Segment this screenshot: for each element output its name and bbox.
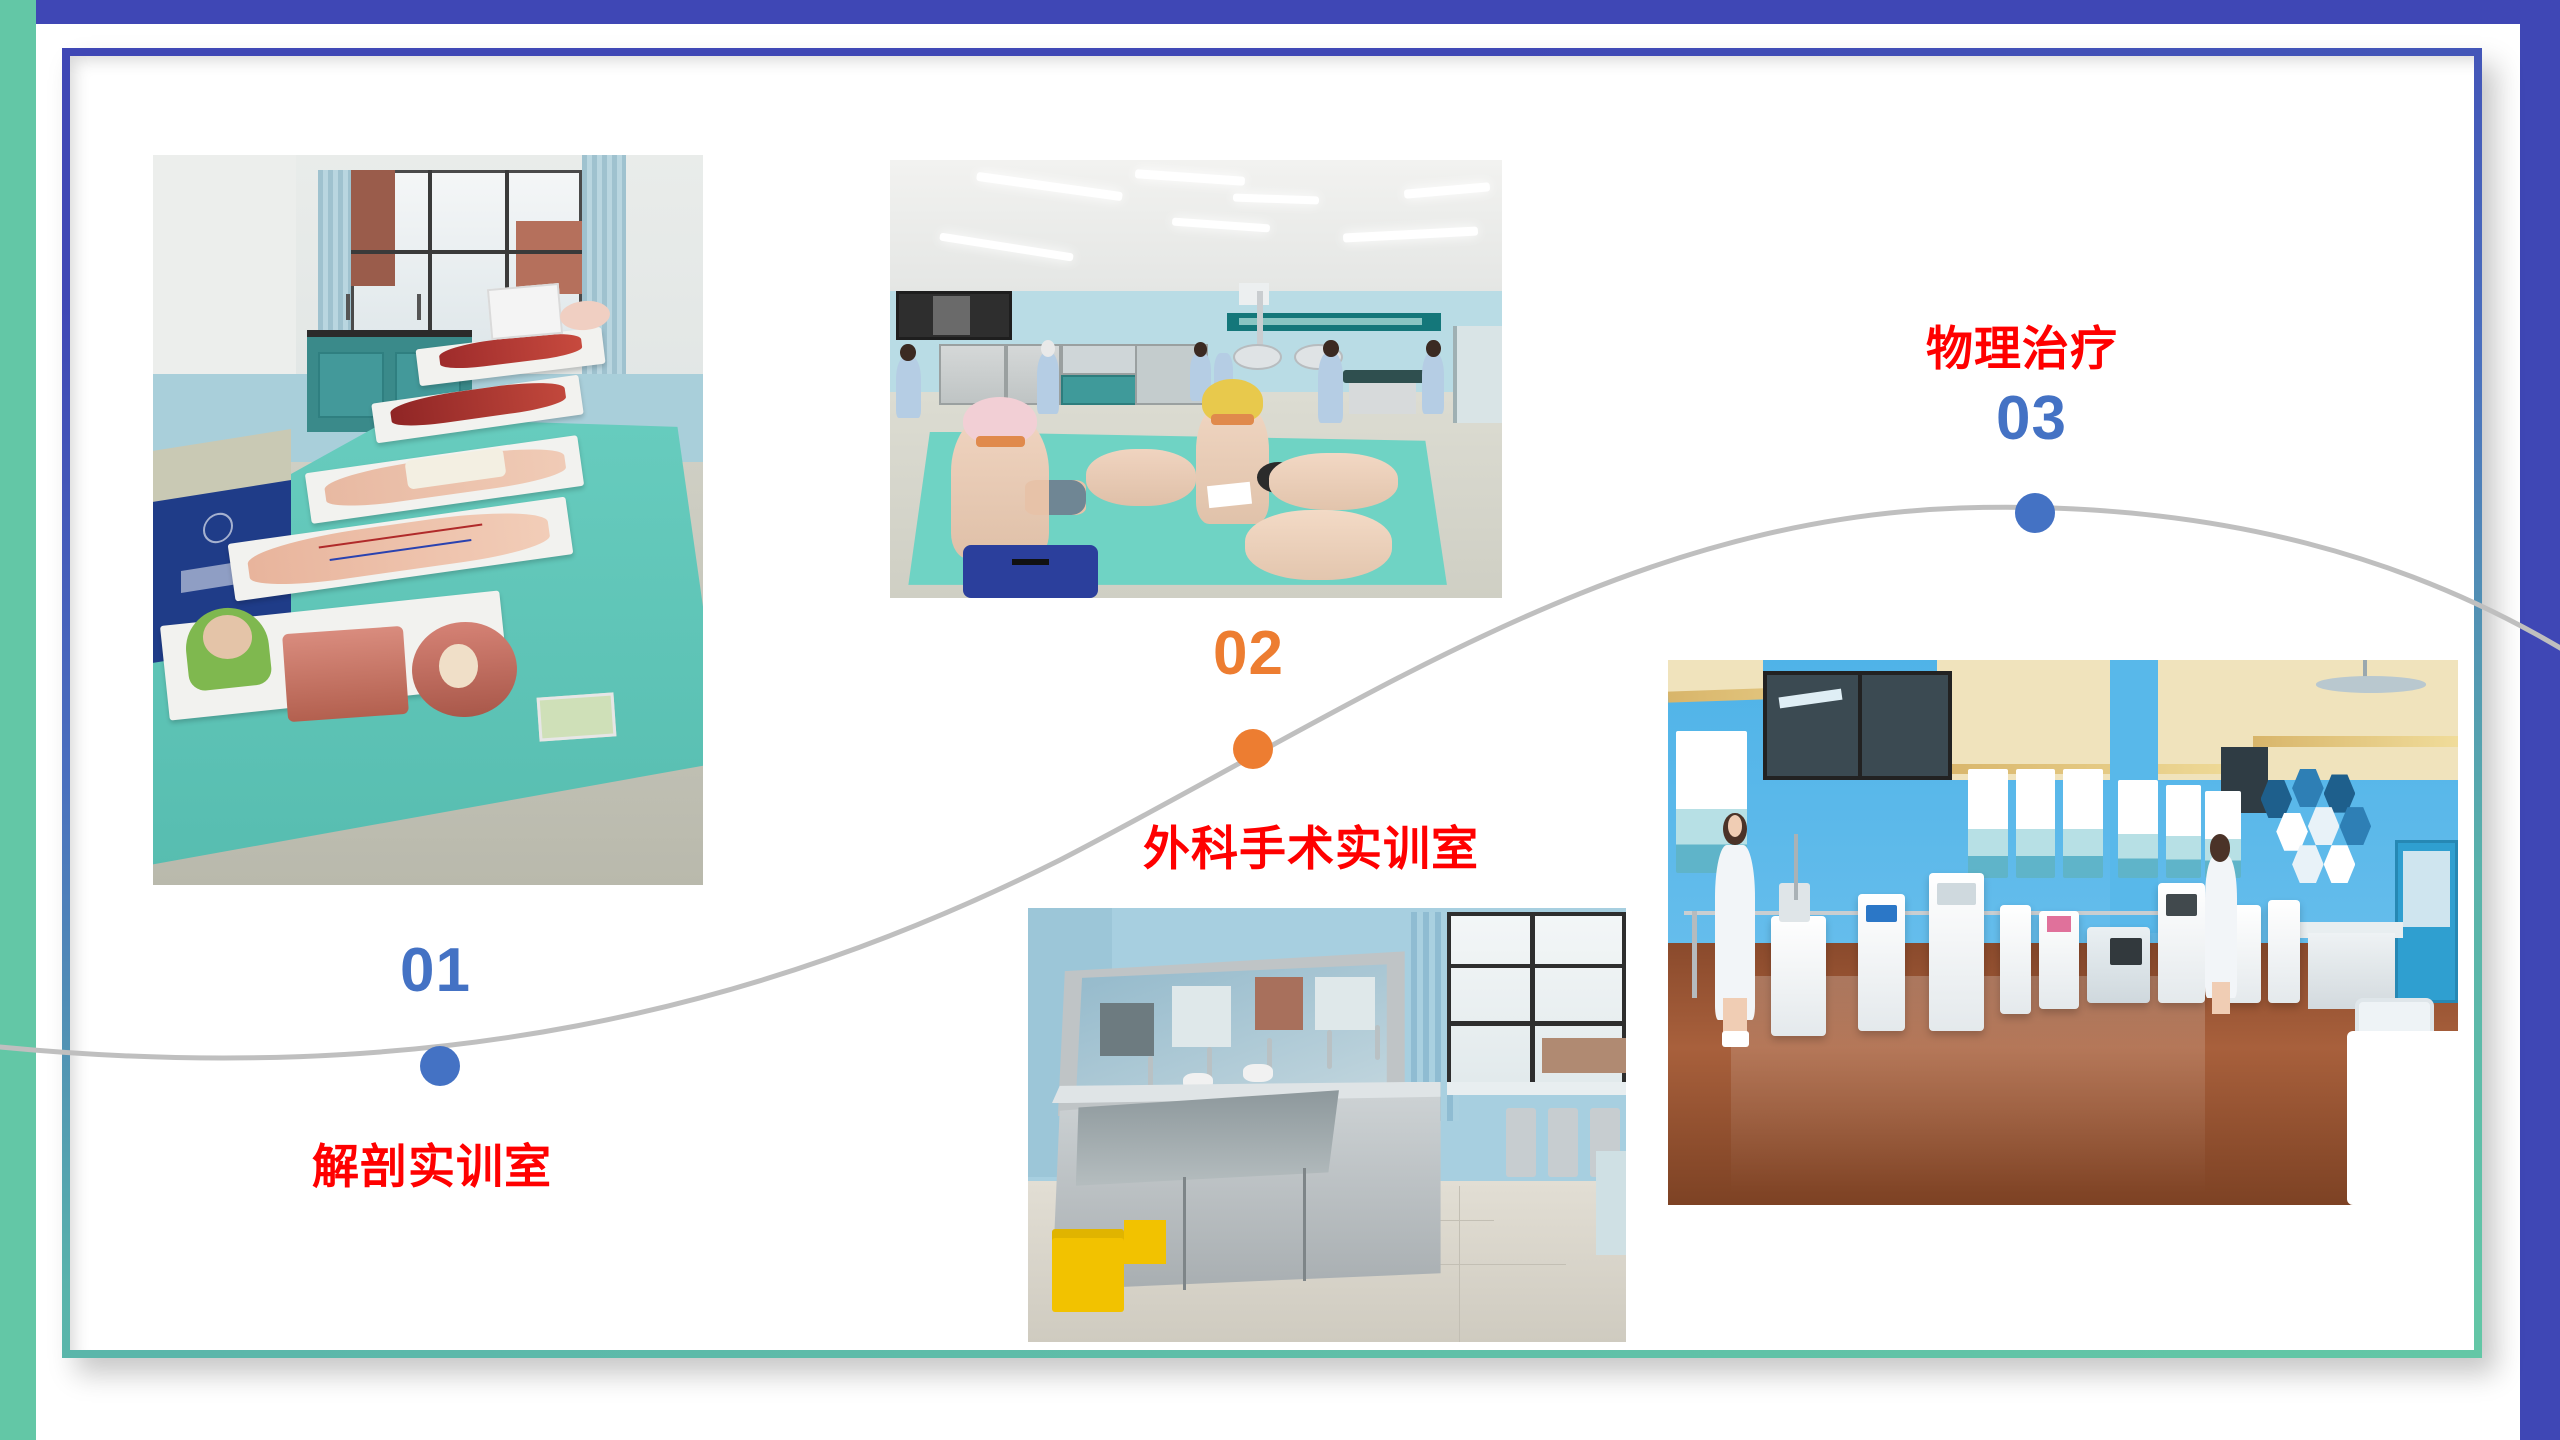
- timeline-dot-02[interactable]: [1233, 729, 1273, 769]
- decor-teal-left-bar: [0, 0, 36, 1440]
- decor-blue-right-bar: [2520, 0, 2560, 1440]
- timeline-dot-01[interactable]: [420, 1046, 460, 1086]
- slide-canvas: 01 解剖实训室 02 外科手术实训室 03 物理治疗: [0, 0, 2560, 1440]
- photo-physiotherapy: [1668, 660, 2458, 1205]
- timeline-caption-02: 外科手术实训室: [1143, 810, 1479, 879]
- timeline-caption-03: 物理治疗: [1926, 310, 2118, 379]
- timeline-number-01: 01: [400, 935, 471, 1006]
- anatomy-table-sign: [537, 693, 617, 742]
- photo-anatomy-lab: [153, 155, 703, 885]
- decor-corner-wedge: [0, 0, 36, 24]
- decor-blue-top-bar: [36, 0, 2560, 24]
- photo-scrub-sink: [1028, 908, 1626, 1342]
- timeline-number-02: 02: [1213, 618, 1284, 689]
- timeline-caption-01: 解剖实训室: [312, 1128, 552, 1197]
- timeline-dot-03[interactable]: [2015, 493, 2055, 533]
- photo-surgery-training: [890, 160, 1502, 598]
- timeline-number-03: 03: [1996, 383, 2067, 454]
